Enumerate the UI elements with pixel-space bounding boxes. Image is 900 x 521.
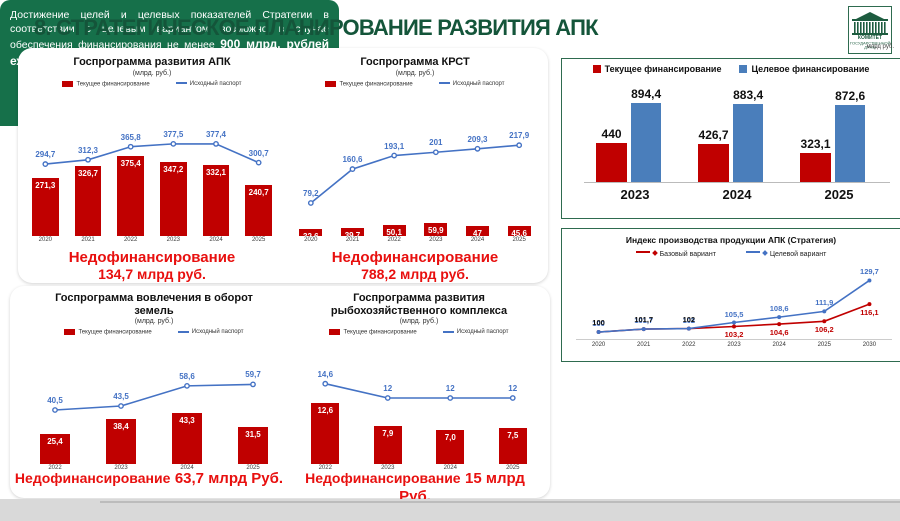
legend-item-passport: Исходный паспорт xyxy=(178,329,244,336)
line-point-label: 43,5 xyxy=(105,392,137,401)
x-tick: 2022 xyxy=(376,237,412,243)
chart-idx-xaxis: 2020202120222023202420252030 xyxy=(576,341,892,353)
bar-apk-2024: 332,1 xyxy=(203,165,229,236)
x-tick: 2024 xyxy=(198,237,234,243)
line-point-label: 365,8 xyxy=(115,133,147,142)
chart-krst-xaxis: 202020212022202320242025 xyxy=(290,236,540,248)
bar-land-2022: 25,4 xyxy=(40,434,70,464)
line-point-label: 209,3 xyxy=(462,135,494,144)
line-point-label: 312,3 xyxy=(72,146,104,155)
x-tick: 2022 xyxy=(113,237,149,243)
chart-krst-subtitle: (млрд. руб.) xyxy=(290,70,540,77)
x-tick: 2020 xyxy=(293,237,329,243)
x-tick: 2023 xyxy=(418,237,454,243)
bar-value: 440 xyxy=(588,127,635,141)
bar-krst-2023: 59,9 xyxy=(424,223,447,236)
line-point-label: 40,5 xyxy=(39,396,71,405)
legend-item-current: Текущее финансирование xyxy=(325,81,412,88)
bar-krst-2022: 50,1 xyxy=(383,225,406,236)
legend-item-base: Базовый вариант xyxy=(636,251,716,258)
chart-apk-subtitle: (млрд. руб.) xyxy=(24,70,280,77)
chart-land-subtitle: (млрд. руб.) xyxy=(22,318,286,325)
chart-fish-legend: Текущее финансирование Исходный паспорт xyxy=(294,329,544,336)
x-tick: 2021 xyxy=(335,237,371,243)
bar-fish-2025: 7,5 xyxy=(499,428,527,464)
bar-fin-2025-target xyxy=(835,105,866,182)
chart-idx-title: Индекс производства продукции АПК (Страт… xyxy=(562,229,900,245)
legend-item-current: Текущее финансирование xyxy=(329,329,416,336)
bar-value: 31,5 xyxy=(238,430,268,439)
line-point-label: 377,4 xyxy=(200,130,232,139)
line-series-apk xyxy=(24,111,280,236)
x-tick: 2024 xyxy=(757,342,802,348)
line-point-label: 300,7 xyxy=(243,149,275,158)
x-tick: 2024 xyxy=(460,237,496,243)
bar-fin-2023-current xyxy=(596,143,627,182)
bar-value: 894,4 xyxy=(623,87,670,101)
bar-land-2024: 43,3 xyxy=(172,413,202,464)
line-point-label: 201 xyxy=(420,138,452,147)
page-title: 8. СТРАТЕГИЧЕСКОЕ ПЛАНИРОВАНИЕ РАЗВИТИЯ … xyxy=(34,15,598,41)
bar-krst-2025: 45,6 xyxy=(508,226,531,236)
chart-idx-legend: Базовый вариант Целевой вариант xyxy=(562,251,900,258)
chart-fish-plot: 12,67,97,07,514,6121212 xyxy=(294,354,544,464)
bar-value: 59,9 xyxy=(424,226,447,235)
line-point-label: 102 xyxy=(673,315,705,324)
chart-apk-underfunding-label: Недофинансирование xyxy=(24,249,280,266)
panel-top-charts: Госпрограмма развития АПК (млрд. руб.) Т… xyxy=(18,48,548,283)
bar-value: 872,6 xyxy=(827,89,874,103)
chart-apk-xaxis: 202020212022202320242025 xyxy=(24,236,280,248)
x-tick: 2022 xyxy=(666,342,711,348)
chart-idx: Индекс производства продукции АПК (Страт… xyxy=(561,228,900,362)
bar-krst-2024: 47 xyxy=(466,226,489,236)
legend-item-target: Целевой вариант xyxy=(746,251,826,258)
chart-krst-plot: 32,639,750,159,94745,679,2160,6193,12012… xyxy=(290,111,540,236)
x-tick: 2021 xyxy=(70,237,106,243)
bottom-strip xyxy=(0,499,900,521)
bar-value: 7,9 xyxy=(374,429,402,438)
chart-land-underfunding: Недофинансирование 63,7 млрд Руб. xyxy=(14,470,284,488)
legend-item-current: Текущее финансирование xyxy=(64,329,151,336)
line-point-label: 12 xyxy=(372,384,404,393)
bar-value: 43,3 xyxy=(172,416,202,425)
line-point-label: 100 xyxy=(583,318,615,327)
chart-fin: Текущее финансирование Целевое финансиро… xyxy=(561,58,900,219)
chart-land-legend: Текущее финансирование Исходный паспорт xyxy=(22,329,286,336)
chart-apk-title: Госпрограмма развития АПК xyxy=(24,56,280,69)
line-point-label: 12 xyxy=(434,384,466,393)
legend-item-target: Целевое финансирование xyxy=(739,64,869,74)
x-tick: 2020 xyxy=(576,342,621,348)
chart-land-title: Госпрограмма вовлечения в оборот земель xyxy=(22,292,286,317)
chart-krst-underfunding-value: 788,2 млрд руб. xyxy=(290,266,540,282)
bar-value: 7,0 xyxy=(436,433,464,442)
chart-fin-legend: Текущее финансирование Целевое финансиро… xyxy=(562,59,900,74)
legend-item-current: Текущее финансирование xyxy=(593,64,722,74)
bar-apk-2025: 240,7 xyxy=(245,185,271,237)
bar-value: 883,4 xyxy=(725,88,772,102)
bar-fin-2024-target xyxy=(733,104,764,182)
chart-krst: Госпрограмма КРСТ (млрд. руб.) Текущее ф… xyxy=(290,56,540,276)
bar-value: 7,5 xyxy=(499,431,527,440)
x-tick: 2025 xyxy=(802,342,847,348)
chart-fin-unit: млрд руб. xyxy=(867,44,894,50)
bar-value: 332,1 xyxy=(203,168,229,177)
line-point-label: 14,6 xyxy=(309,370,341,379)
line-point-label: 377,5 xyxy=(157,130,189,139)
chart-fish-subtitle: (млрд. руб.) xyxy=(294,318,544,325)
bar-krst-2020: 32,6 xyxy=(299,229,322,236)
line-point-label: 101,7 xyxy=(628,315,660,324)
x-tick: 2021 xyxy=(621,342,666,348)
chart-land: Госпрограмма вовлечения в оборот земель … xyxy=(22,292,286,492)
bar-value: 271,3 xyxy=(32,181,58,190)
bar-value: 326,7 xyxy=(75,169,101,178)
x-tick: 2020 xyxy=(27,237,63,243)
line-point-label: 12 xyxy=(497,384,529,393)
line-point-label: 294,7 xyxy=(29,150,61,159)
chart-fish: Госпрограмма развития рыбохозяйственного… xyxy=(294,292,544,492)
bar-value: 240,7 xyxy=(245,188,271,197)
x-tick: 2024 xyxy=(686,187,788,202)
chart-fin-plot: 440894,4426,7883,4323,1872,6 xyxy=(584,87,890,183)
legend-item-passport: Исходный паспорт xyxy=(176,81,242,88)
bar-fin-2025-current xyxy=(800,153,831,182)
bar-value: 347,2 xyxy=(160,165,186,174)
bar-land-2023: 38,4 xyxy=(106,419,136,464)
bar-value: 323,1 xyxy=(792,137,839,151)
bar-value: 38,4 xyxy=(106,422,136,431)
chart-land-plot: 25,438,443,331,540,543,558,659,7 xyxy=(22,354,286,464)
legend-item-passport: Исходный паспорт xyxy=(439,81,505,88)
x-tick: 2023 xyxy=(711,342,756,348)
chart-krst-underfunding-label: Недофинансирование xyxy=(290,249,540,266)
chart-krst-legend: Текущее финансирование Исходный паспорт xyxy=(290,81,540,88)
bar-apk-2021: 326,7 xyxy=(75,166,101,236)
bar-apk-2023: 347,2 xyxy=(160,162,186,236)
bar-fin-2023-target xyxy=(631,103,662,182)
bar-value: 12,6 xyxy=(311,406,339,415)
bar-apk-2020: 271,3 xyxy=(32,178,58,236)
bar-value: 25,4 xyxy=(40,437,70,446)
panel-bottom-charts: Госпрограмма вовлечения в оборот земель … xyxy=(10,286,550,498)
index-series xyxy=(576,273,892,339)
legend-item-passport: Исходный паспорт xyxy=(443,329,509,336)
x-tick: 2023 xyxy=(155,237,191,243)
chart-fin-xaxis: 202320242025 xyxy=(584,187,890,203)
bar-fish-2023: 7,9 xyxy=(374,426,402,464)
line-point-label: 217,9 xyxy=(503,131,535,140)
line-point-label: 59,7 xyxy=(237,370,269,379)
chart-apk-plot: 271,3326,7375,4347,2332,1240,7294,7312,3… xyxy=(24,111,280,236)
chart-apk: Госпрограмма развития АПК (млрд. руб.) Т… xyxy=(24,56,280,276)
chart-krst-title: Госпрограмма КРСТ xyxy=(290,56,540,69)
chart-apk-legend: Текущее финансирование Исходный паспорт xyxy=(24,81,280,88)
x-tick: 2030 xyxy=(847,342,892,348)
chart-idx-plot: 103,2104,6106,2116,1100101,7102105,5108,… xyxy=(576,273,892,340)
x-tick: 2025 xyxy=(241,237,277,243)
line-point-label: 58,6 xyxy=(171,372,203,381)
bar-apk-2022: 375,4 xyxy=(117,156,143,236)
strip-divider xyxy=(100,501,900,519)
chart-fish-title: Госпрограмма развития рыбохозяйственного… xyxy=(294,292,544,317)
parliament-building-icon xyxy=(852,10,888,36)
bar-value: 426,7 xyxy=(690,128,737,142)
line-point-label: 193,1 xyxy=(378,142,410,151)
x-tick: 2025 xyxy=(501,237,537,243)
line-series-krst xyxy=(290,111,540,236)
bar-krst-2021: 39,7 xyxy=(341,228,364,237)
x-tick: 2025 xyxy=(788,187,890,202)
bar-fish-2022: 12,6 xyxy=(311,403,339,464)
line-point-label: 160,6 xyxy=(337,155,369,164)
line-point-label: 79,2 xyxy=(295,189,327,198)
bar-value: 375,4 xyxy=(117,159,143,168)
legend-item-current: Текущее финансирование xyxy=(62,81,149,88)
bar-fish-2024: 7,0 xyxy=(436,430,464,464)
bar-land-2025: 31,5 xyxy=(238,427,268,464)
bar-fin-2024-current xyxy=(698,144,729,182)
x-tick: 2023 xyxy=(584,187,686,202)
chart-apk-underfunding-value: 134,7 млрд руб. xyxy=(24,266,280,282)
